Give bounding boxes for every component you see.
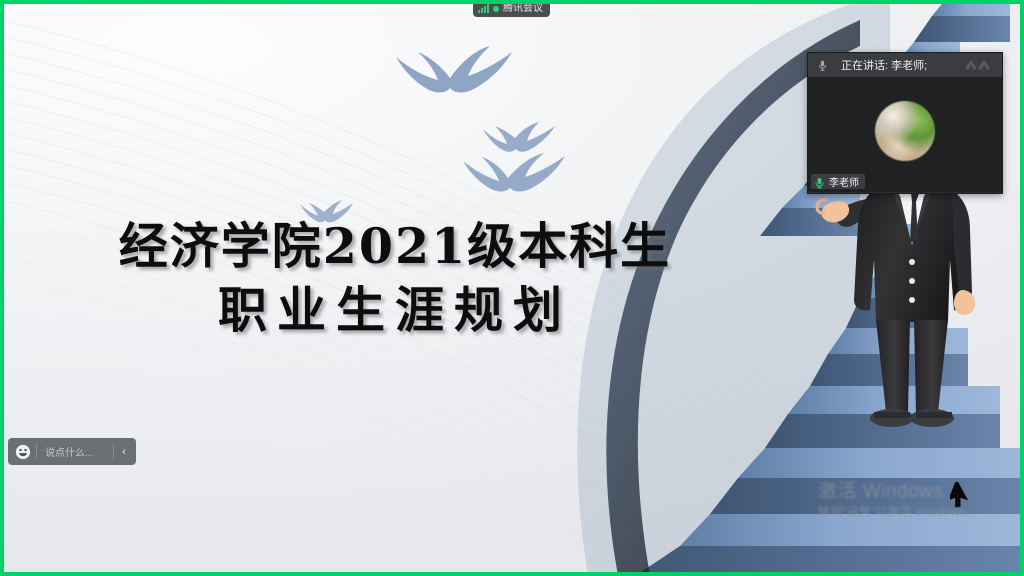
participant-avatar — [875, 101, 935, 161]
microphone-icon[interactable] — [814, 57, 830, 73]
screen-share-view: 经济学院2021级本科生 职业生涯规划 — [0, 0, 1024, 576]
video-stage: 李老师 — [808, 77, 1002, 192]
chevron-left-icon[interactable]: ‹ — [114, 438, 134, 465]
emoji-smiley-icon[interactable] — [10, 438, 36, 465]
active-speaker-label: 正在讲话: 李老师; — [841, 57, 927, 73]
tencent-meeting-logo-icon — [963, 57, 997, 73]
tencent-meeting-badge-label: 腾讯会议 — [503, 4, 543, 14]
video-panel[interactable]: 正在讲话: 李老师; 李老师 — [807, 52, 1003, 194]
chat-input-placeholder[interactable]: 说点什么... — [37, 444, 113, 459]
video-panel-header: 正在讲话: 李老师; — [808, 53, 1002, 77]
chat-input-bar[interactable]: 说点什么... ‹ — [8, 438, 136, 465]
tencent-meeting-top-badge[interactable]: 腾讯会议 — [473, 0, 550, 17]
live-dot-icon — [493, 6, 499, 12]
participant-name: 李老师 — [829, 174, 859, 189]
signal-bars-icon — [478, 4, 489, 13]
microphone-active-icon — [814, 176, 825, 188]
participant-nametag: 李老师 — [811, 174, 865, 189]
